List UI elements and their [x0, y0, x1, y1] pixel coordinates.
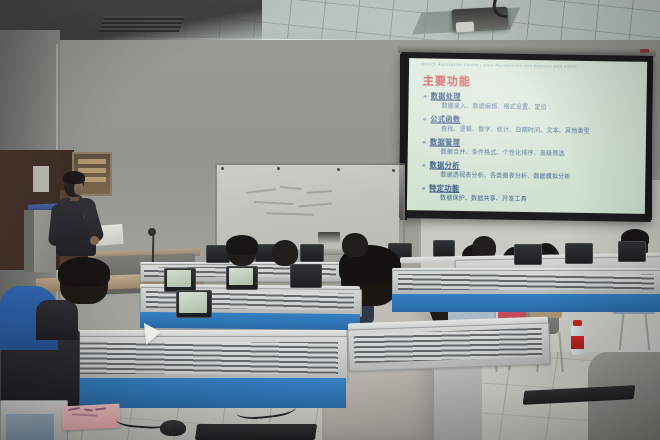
- monitor-screen: [6, 414, 54, 440]
- projector-lens-icon: [456, 22, 474, 33]
- slide-group: 公式函数 查找、逻辑、数学、统计、日期时间、文本、其他类型: [421, 113, 640, 138]
- whiteboard-eraser-icon: [318, 232, 340, 244]
- handwriting-marks: [68, 408, 108, 417]
- instructor-hand: [90, 236, 99, 245]
- desktop-tower-front: [24, 210, 34, 272]
- keyboard-icon: [195, 424, 317, 440]
- slide-title: 主要功能: [423, 72, 471, 89]
- monitor-screen: [167, 270, 191, 287]
- student-head: [272, 240, 298, 266]
- whiteboard-fastener: [337, 168, 340, 171]
- workstation-glass-front: [64, 342, 338, 374]
- whiteboard-fastener: [277, 167, 280, 170]
- projected-slide: OFFICE Application Course | Data Managem…: [407, 58, 647, 214]
- wall-notice-sheet: [33, 166, 49, 192]
- bottle-label: [571, 336, 584, 349]
- air-vent-icon: [99, 16, 185, 32]
- monitor-icon: [300, 244, 324, 262]
- classroom-photo: OFFICE Application Course | Data Managem…: [0, 0, 660, 440]
- slide-group: 数据处理 数据录入、数据编辑、格式设置、定位: [421, 90, 640, 115]
- instructor-hair: [63, 171, 85, 184]
- microphone-icon: [148, 228, 156, 236]
- slide-group: 数据管理 数据合并、条件格式、个性化排序、高级筛选: [421, 136, 640, 161]
- bottle-cap: [573, 320, 582, 326]
- slide-group: 数据分析 数据透视表分析、各类图表分析、数据模拟分析: [420, 159, 639, 184]
- monitor-screen: [229, 268, 253, 285]
- folded-paper-icon: [144, 321, 162, 345]
- slide-bullet-list: 数据处理 数据录入、数据编辑、格式设置、定位 公式函数 查找、逻辑、数学、统计、…: [420, 90, 641, 208]
- slide-group-detail: 数据保护、数据共享、开发工具: [420, 193, 639, 207]
- student-head: [342, 233, 368, 257]
- student-torso: [36, 300, 78, 340]
- monitor-icon: [290, 264, 322, 288]
- monitor-icon: [565, 243, 593, 264]
- monitor-icon: [514, 244, 542, 265]
- slide-group: 特定功能 数据保护、数据共享、开发工具: [420, 182, 639, 207]
- student-hair: [226, 235, 258, 255]
- student-hair: [58, 257, 110, 287]
- monitor-icon: [618, 241, 646, 262]
- whiteboard-writing: [246, 186, 366, 220]
- workstation-blue-panel: [140, 312, 360, 330]
- whiteboard-fastener: [392, 169, 395, 172]
- workstation-glass: [398, 274, 654, 290]
- monitor-screen: [179, 292, 207, 313]
- whiteboard-fastener: [221, 167, 224, 170]
- monitor-icon: [433, 240, 455, 257]
- screen-roller-endcap: [640, 49, 649, 53]
- workstation-blue-panel: [392, 294, 660, 312]
